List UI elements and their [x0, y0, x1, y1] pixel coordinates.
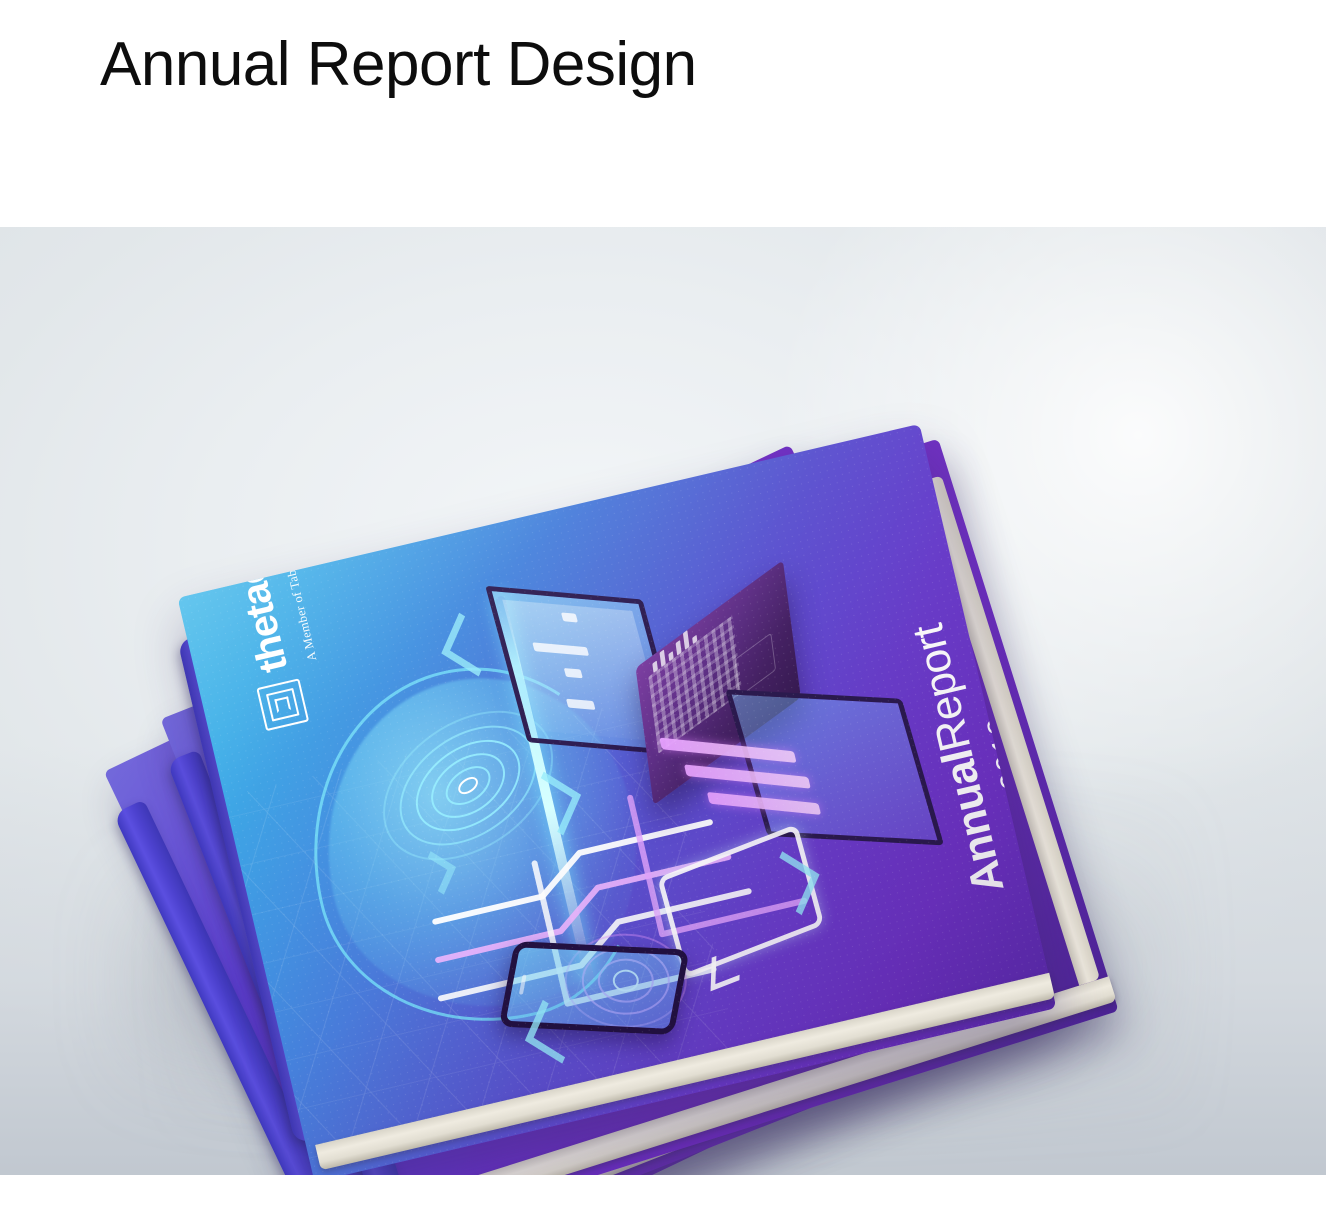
hero-image: Annual [0, 227, 1326, 1175]
page-header: Annual Report Design [0, 0, 1326, 227]
brand-word-secondary: edge [214, 497, 276, 589]
brand-anniversary-badge: 80 [212, 455, 243, 486]
page-root: Annual Report Design [0, 0, 1326, 1228]
page-title: Annual Report Design [100, 32, 697, 99]
book-stack: Annual [0, 227, 1326, 1175]
